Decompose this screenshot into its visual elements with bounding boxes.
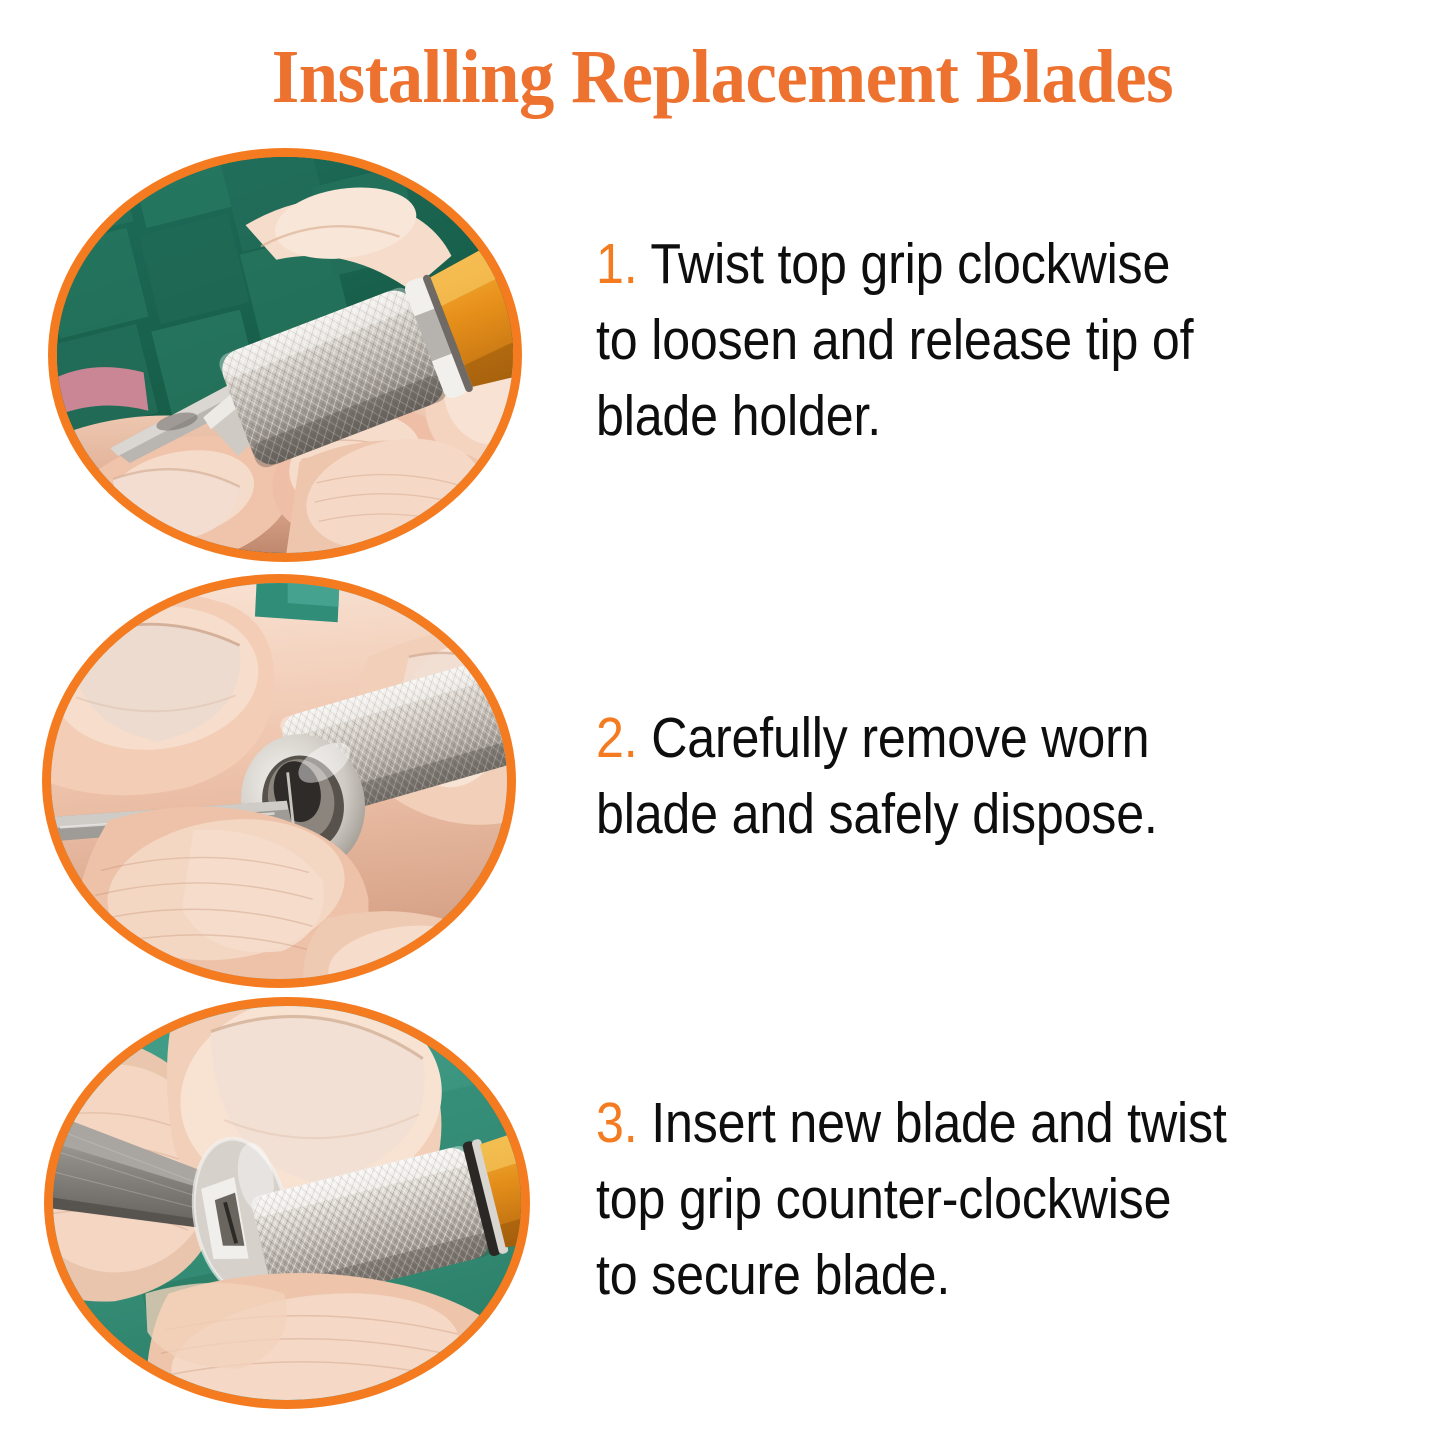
step-1-number: 1. <box>596 232 650 296</box>
step-1-line-1: 1.Twist top grip clockwise <box>596 226 1300 302</box>
step-3-line-2: top grip counter-clockwise <box>596 1161 1300 1237</box>
step-3-photo <box>44 997 530 1409</box>
step-1: 1.Twist top grip clockwise to loosen and… <box>596 226 1396 454</box>
step-2-line-1: 2.Carefully remove worn <box>596 700 1300 776</box>
step-2-illustration <box>51 583 507 979</box>
step-3: 3.Insert new blade and twist top grip co… <box>596 1085 1396 1313</box>
step-2-text-1: Carefully remove worn <box>651 706 1149 770</box>
step-1-line-3: blade holder. <box>596 378 1300 454</box>
step-2-number: 2. <box>596 706 651 770</box>
photo-column <box>0 0 560 1445</box>
step-3-text-1: Insert new blade and twist <box>651 1091 1226 1155</box>
step-2: 2.Carefully remove worn blade and safely… <box>596 700 1396 852</box>
step-3-illustration <box>53 1006 521 1400</box>
step-2-line-2: blade and safely dispose. <box>596 776 1300 852</box>
step-3-line-3: to secure blade. <box>596 1237 1300 1313</box>
step-2-photo <box>42 574 516 988</box>
instruction-graphic: Installing Replacement Blades <box>0 0 1445 1445</box>
step-3-number: 3. <box>596 1091 651 1155</box>
step-3-line-1: 3.Insert new blade and twist <box>596 1085 1300 1161</box>
steps-column: 1.Twist top grip clockwise to loosen and… <box>596 0 1416 1445</box>
step-1-line-2: to loosen and release tip of <box>596 302 1300 378</box>
step-1-photo <box>48 148 522 562</box>
step-1-illustration <box>57 157 513 553</box>
step-1-text-1: Twist top grip clockwise <box>650 232 1170 296</box>
